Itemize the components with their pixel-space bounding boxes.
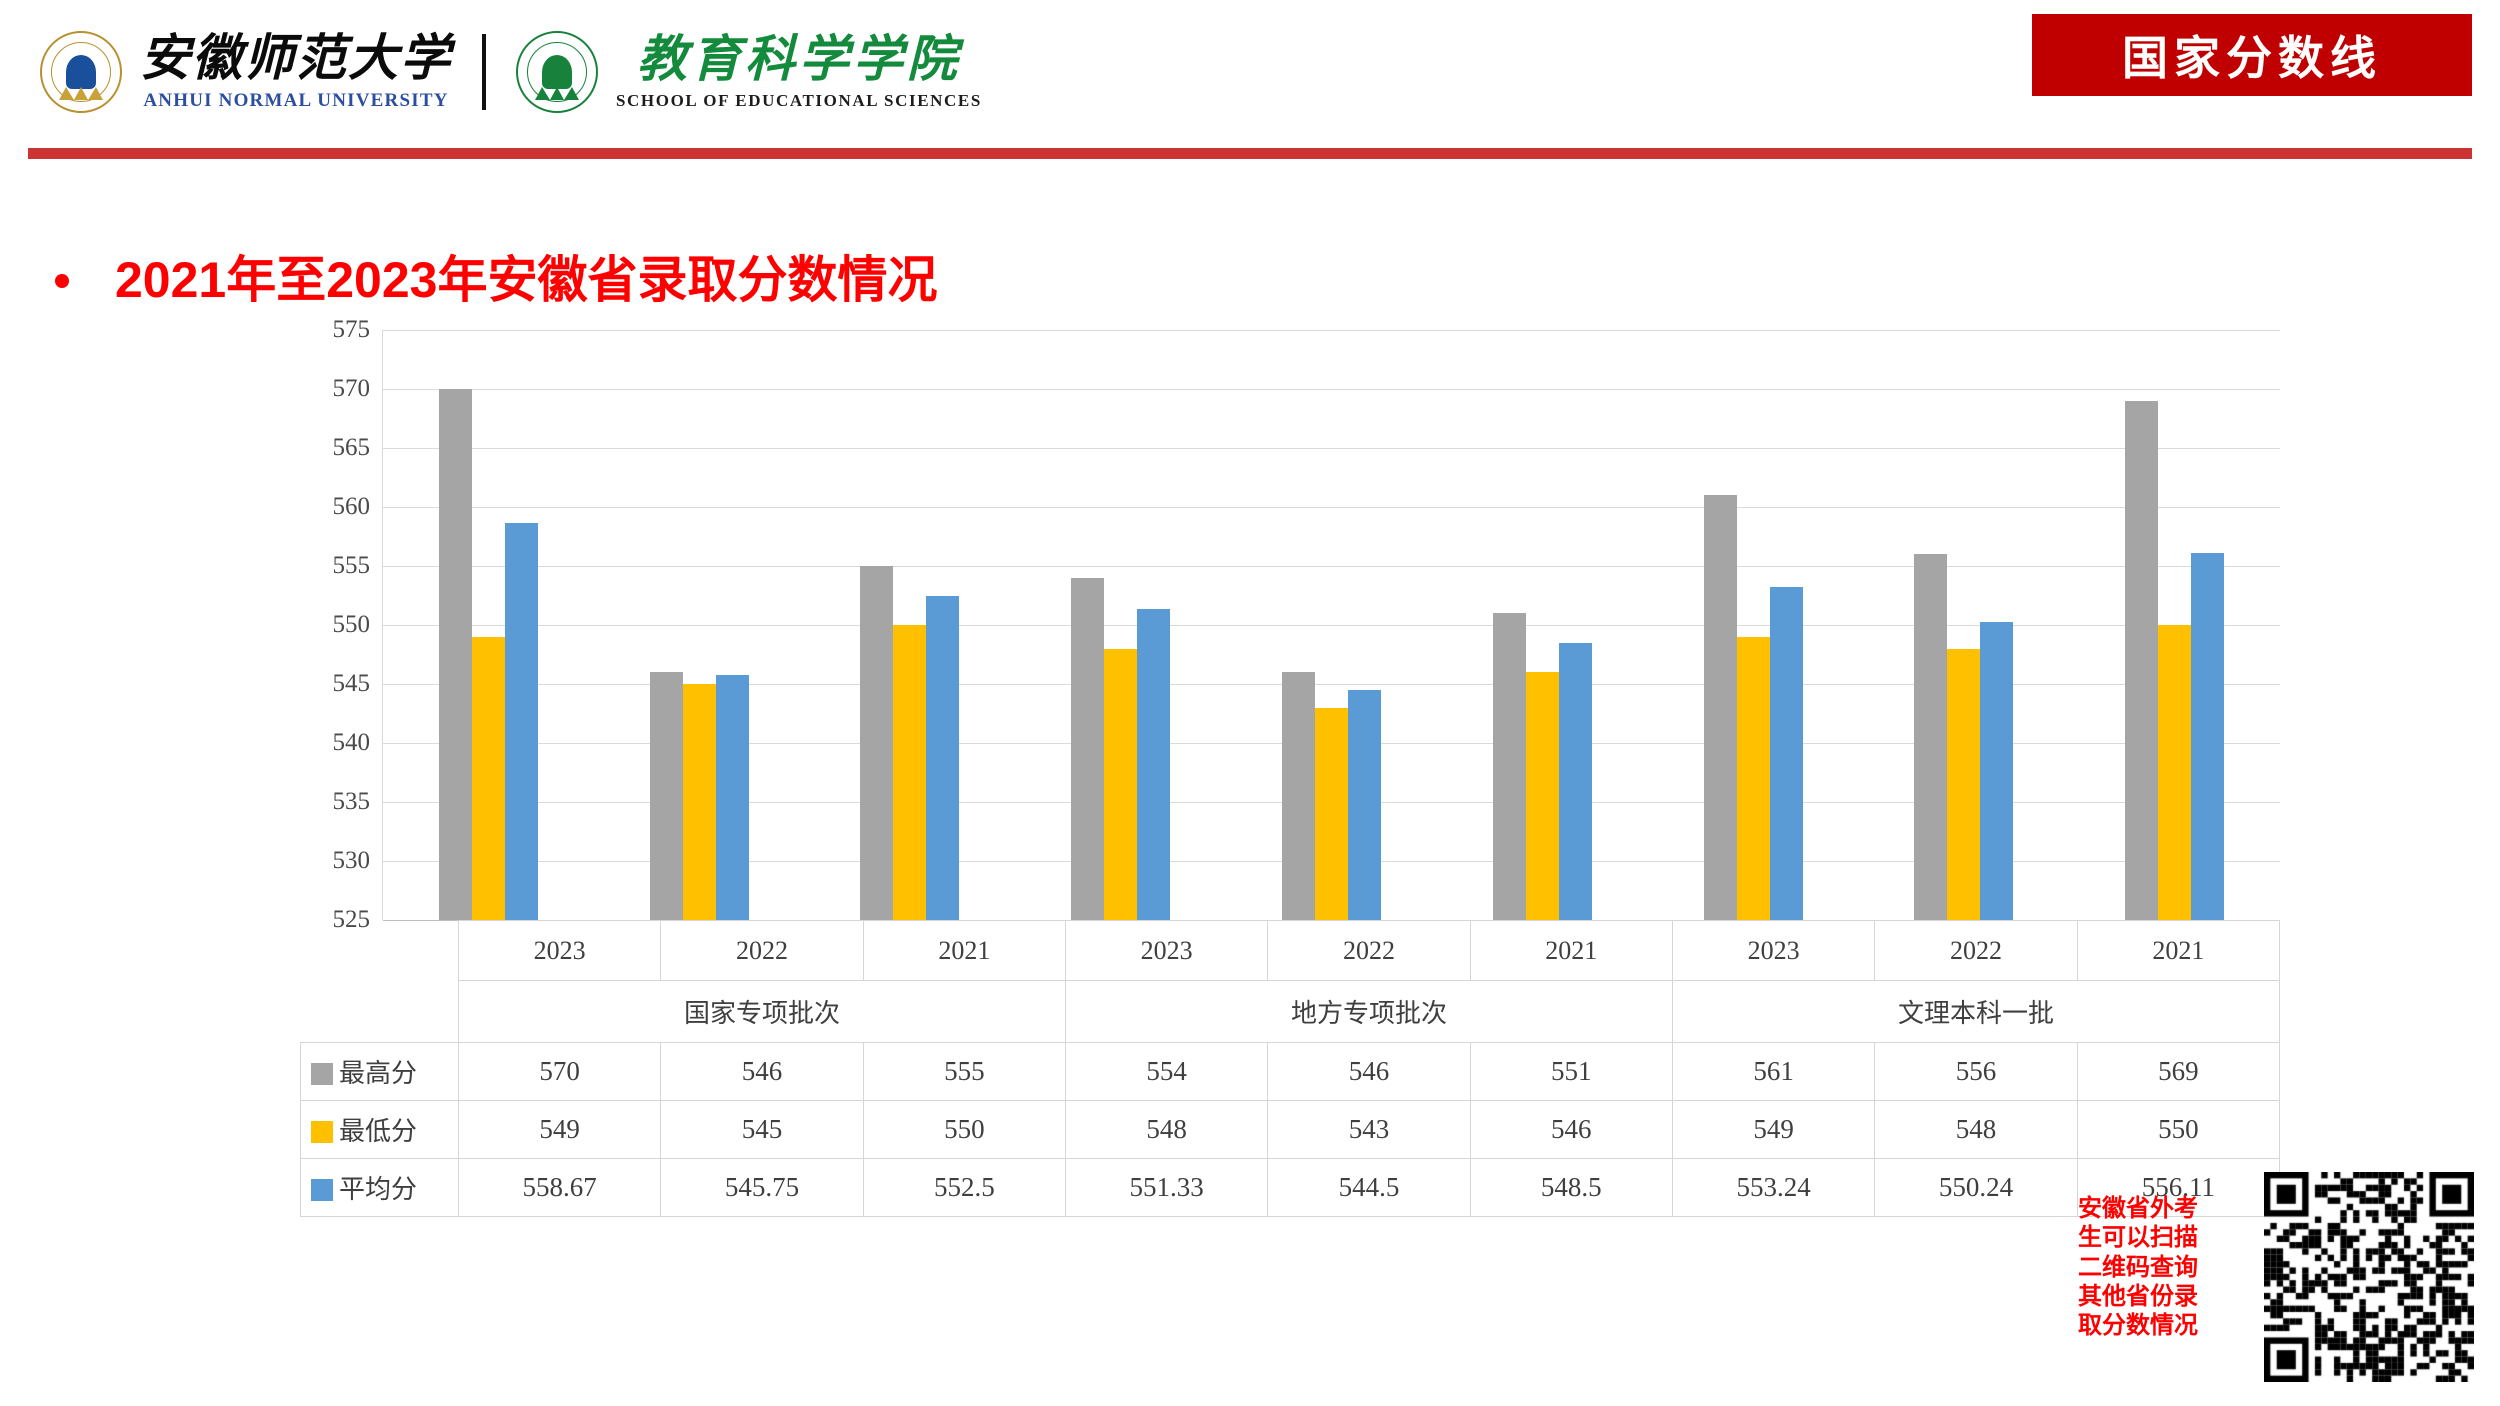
page-title-row: 2021年至2023年安徽省录取分数情况 (55, 240, 937, 312)
qr-footer: 安徽省外考生可以扫描二维码查询其他省份录取分数情况 (2078, 1160, 2478, 1400)
table-cell: 546 (661, 1043, 863, 1101)
table-cell: 545.75 (661, 1159, 863, 1217)
table-cell: 551.33 (1065, 1159, 1267, 1217)
table-cell: 546 (1268, 1043, 1470, 1101)
bar-平均分-2021 (2191, 553, 2224, 920)
bar-group (383, 330, 594, 920)
table-cell: 569 (2077, 1043, 2279, 1101)
x-axis-year-0: 2023 (459, 921, 661, 981)
bar-最低分-2021 (2158, 625, 2191, 920)
bar-最高分-2021 (2125, 401, 2158, 920)
legend-swatch-icon (311, 1063, 333, 1085)
qr-code-icon[interactable] (2264, 1172, 2474, 1382)
x-axis-year-7: 2022 (1875, 921, 2077, 981)
y-axis-tick-545: 545 (333, 670, 371, 698)
logo-group: 安徽师范大学 ANHUI NORMAL UNIVERSITY 教育科学学院 SC… (40, 18, 982, 126)
table-cell: 548.5 (1470, 1159, 1672, 1217)
x-axis-group-2: 文理本科一批 (1672, 981, 2279, 1043)
bar-最高分-2023 (1704, 495, 1737, 920)
x-axis-year-8: 2021 (2077, 921, 2279, 981)
bar-chart: 575570565560555550545540535530525 (300, 330, 2280, 920)
university-name-cn: 安徽师范大学 (140, 32, 452, 85)
y-axis-tick-555: 555 (333, 552, 371, 580)
table-cell: 554 (1065, 1043, 1267, 1101)
table-row: 平均分558.67545.75552.5551.33544.5548.5553.… (301, 1159, 2280, 1217)
school-name-cn: 教育科学学院 (637, 33, 961, 86)
table-cell: 548 (1065, 1101, 1267, 1159)
bar-最低分-2021 (893, 625, 926, 920)
bar-最低分-2022 (683, 684, 716, 920)
qr-caption-line: 取分数情况 (2078, 1311, 2218, 1340)
school-name-en: SCHOOL OF EDUCATIONAL SCIENCES (616, 91, 982, 111)
table-cell: 549 (459, 1101, 661, 1159)
legend-swatch-icon (311, 1179, 333, 1201)
bar-最低分-2023 (1737, 637, 1770, 920)
qr-caption-line: 安徽省外考 (2078, 1194, 2218, 1223)
bar-平均分-2023 (1137, 609, 1170, 920)
qr-caption-line: 其他省份录 (2078, 1282, 2218, 1311)
bar-最高分-2021 (860, 566, 893, 920)
bar-最低分-2022 (1947, 649, 1980, 920)
x-axis-year-3: 2023 (1065, 921, 1267, 981)
university-name-en: ANHUI NORMAL UNIVERSITY (143, 90, 448, 112)
bar-最高分-2022 (650, 672, 683, 920)
bar-平均分-2023 (1770, 587, 1803, 920)
logo-divider (482, 34, 486, 110)
header-rule (28, 148, 2472, 159)
section-banner: 国家分数线 (2032, 14, 2472, 96)
x-axis-group-1: 地方专项批次 (1065, 981, 1672, 1043)
y-axis-tick-565: 565 (333, 434, 371, 462)
bar-最低分-2021 (1526, 672, 1559, 920)
table-cell: 558.67 (459, 1159, 661, 1217)
table-corner-cell-2 (301, 981, 459, 1043)
legend-swatch-icon (311, 1121, 333, 1143)
chart-bar-groups (383, 330, 2280, 920)
university-name-block: 安徽师范大学 ANHUI NORMAL UNIVERSITY (140, 32, 452, 113)
table-row-years: 202320222021202320222021202320222021 (301, 921, 2280, 981)
table-cell: 543 (1268, 1101, 1470, 1159)
page-title: 2021年至2023年安徽省录取分数情况 (115, 240, 937, 312)
y-axis-tick-530: 530 (333, 847, 371, 875)
bar-最低分-2023 (1104, 649, 1137, 920)
qr-caption: 安徽省外考生可以扫描二维码查询其他省份录取分数情况 (2078, 1194, 2218, 1340)
y-axis-tick-570: 570 (333, 375, 371, 403)
table-cell: 550 (863, 1101, 1065, 1159)
chart-data-table: 202320222021202320222021202320222021国家专项… (300, 920, 2280, 1217)
bar-group (1226, 330, 1437, 920)
table-cell: 544.5 (1268, 1159, 1470, 1217)
x-axis-year-5: 2021 (1470, 921, 1672, 981)
table-corner-cell (301, 921, 459, 981)
table-cell: 546 (1470, 1101, 1672, 1159)
bar-最高分-2021 (1493, 613, 1526, 920)
bar-group (1015, 330, 1226, 920)
bar-最低分-2023 (472, 637, 505, 920)
bullet-icon (55, 274, 69, 288)
table-cell: 555 (863, 1043, 1065, 1101)
x-axis-year-1: 2022 (661, 921, 863, 981)
bar-平均分-2022 (716, 675, 749, 920)
x-axis-year-4: 2022 (1268, 921, 1470, 981)
slide-header: 安徽师范大学 ANHUI NORMAL UNIVERSITY 教育科学学院 SC… (0, 0, 2500, 160)
y-axis-tick-540: 540 (333, 729, 371, 757)
legend-label: 最高分 (339, 1059, 417, 1088)
bar-group (1858, 330, 2069, 920)
legend-label: 平均分 (339, 1175, 417, 1204)
slide-root: 安徽师范大学 ANHUI NORMAL UNIVERSITY 教育科学学院 SC… (0, 0, 2500, 1406)
legend-item-平均分: 平均分 (301, 1159, 459, 1217)
table-cell: 551 (1470, 1043, 1672, 1101)
table-cell: 552.5 (863, 1159, 1065, 1217)
bar-group (1648, 330, 1859, 920)
table-cell: 549 (1672, 1101, 1874, 1159)
chart-plot-area (382, 330, 2280, 920)
y-axis-tick-535: 535 (333, 788, 371, 816)
bar-平均分-2022 (1980, 622, 2013, 920)
table-cell: 550 (2077, 1101, 2279, 1159)
bar-平均分-2022 (1348, 690, 1381, 920)
table-row-groups: 国家专项批次地方专项批次文理本科一批 (301, 981, 2280, 1043)
bar-平均分-2023 (505, 523, 538, 920)
bar-最高分-2023 (1071, 578, 1104, 920)
table-cell: 548 (1875, 1101, 2077, 1159)
legend-item-最低分: 最低分 (301, 1101, 459, 1159)
bar-最高分-2022 (1282, 672, 1315, 920)
table-row: 最低分549545550548543546549548550 (301, 1101, 2280, 1159)
bar-最低分-2022 (1315, 708, 1348, 920)
bar-平均分-2021 (926, 596, 959, 921)
bar-group (2069, 330, 2280, 920)
y-axis-tick-560: 560 (333, 493, 371, 521)
table-cell: 550.24 (1875, 1159, 2077, 1217)
legend-label: 最低分 (339, 1117, 417, 1146)
y-axis-labels: 575570565560555550545540535530525 (300, 330, 378, 920)
bar-最高分-2023 (439, 389, 472, 920)
bar-平均分-2021 (1559, 643, 1592, 920)
table-row: 最高分570546555554546551561556569 (301, 1043, 2280, 1101)
table-cell: 561 (1672, 1043, 1874, 1101)
school-name-block: 教育科学学院 SCHOOL OF EDUCATIONAL SCIENCES (616, 33, 982, 112)
bar-group (594, 330, 805, 920)
x-axis-year-2: 2021 (863, 921, 1065, 981)
bar-group (1437, 330, 1648, 920)
qr-caption-line: 二维码查询 (2078, 1253, 2218, 1282)
y-axis-tick-575: 575 (333, 316, 371, 344)
x-axis-group-0: 国家专项批次 (459, 981, 1066, 1043)
y-axis-tick-550: 550 (333, 611, 371, 639)
bar-最高分-2022 (1914, 554, 1947, 920)
section-banner-label: 国家分数线 (2122, 22, 2382, 88)
legend-item-最高分: 最高分 (301, 1043, 459, 1101)
table-cell: 570 (459, 1043, 661, 1101)
table-cell: 556 (1875, 1043, 2077, 1101)
anhui-normal-university-seal-icon (40, 31, 122, 113)
bar-group (805, 330, 1016, 920)
x-axis-year-6: 2023 (1672, 921, 1874, 981)
table-cell: 553.24 (1672, 1159, 1874, 1217)
table-cell: 545 (661, 1101, 863, 1159)
qr-caption-line: 生可以扫描 (2078, 1223, 2218, 1252)
school-of-educational-sciences-seal-icon (516, 31, 598, 113)
